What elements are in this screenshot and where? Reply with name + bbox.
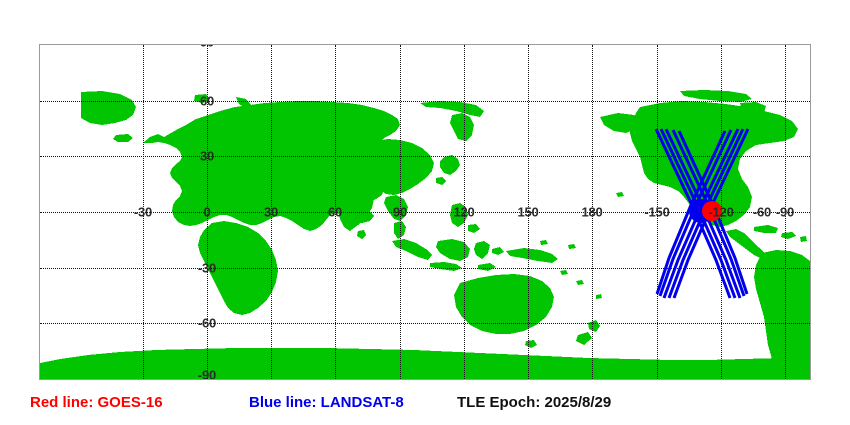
lon-tick-180: 180 [581,206,602,219]
central-america [726,229,766,259]
japan [440,155,460,175]
lon-tick--150: -150 [644,206,669,219]
legend-tle-epoch: TLE Epoch: 2025/8/29 [457,392,611,414]
india [338,183,374,231]
lat-tick--90: -90 [198,369,216,381]
lon-tick--30: -30 [134,206,152,219]
legend-landsat8: Blue line: LANDSAT-8 [249,392,404,414]
pacific-isle-e [568,244,576,249]
lon-tick-30: 30 [264,206,278,219]
gridline-lat-60 [40,101,810,102]
lesser-antilles [800,236,807,242]
lon-tick--120: -120 [708,206,733,219]
gridline-lat-30 [40,156,810,157]
lon-tick--60: -60 [753,206,771,219]
lat-tick--60: -60 [198,317,216,330]
kamchatka [450,113,474,141]
pacific-isle-b [576,280,584,285]
new-guinea [506,248,558,263]
ne-siberia [420,101,484,117]
tasmania [525,340,537,348]
cuba [754,225,778,233]
java [430,262,462,271]
legend-goes16: Red line: GOES-16 [30,392,163,414]
hispaniola [781,232,796,239]
lon-tick-90: 90 [393,206,407,219]
lat-tick-30: 30 [200,150,214,163]
new-zealand-north [588,320,600,332]
gridline-lat--30 [40,268,810,269]
pacific-isle-c [596,294,602,299]
pacific-isle-d [540,240,548,245]
sulawesi [474,241,490,259]
greenland [81,91,136,125]
timor [478,263,496,271]
japan-south [436,177,446,185]
lat-tick-90: 90 [200,44,214,49]
lon-tick-60: 60 [328,206,342,219]
sumatra [392,239,432,260]
sri-lanka [357,230,366,239]
gridline-lat--60 [40,323,810,324]
gridline-lat-0 [40,212,810,213]
map-plot-area[interactable]: -30 0 30 60 90 120 150 180 -150 -120 -90… [39,44,811,380]
antarctica [40,348,810,379]
philippines-south [468,224,480,233]
legend: Red line: GOES-16 Blue line: LANDSAT-8 T… [0,392,850,425]
lat-tick--30: -30 [198,262,216,275]
lon-tick--90: -90 [776,206,794,219]
east-asia [374,139,434,195]
pacific-isle-a [560,270,568,275]
lat-tick-60: 60 [200,95,214,108]
new-zealand-south [576,332,592,345]
moluccas [492,247,504,255]
iceland [113,134,133,142]
lon-tick-150: 150 [517,206,538,219]
lon-tick-120: 120 [453,206,474,219]
satellite-ground-track-map: -30 0 30 60 90 120 150 180 -150 -120 -90… [0,0,850,425]
lon-tick-0: 0 [203,206,210,219]
australia [454,274,554,334]
hawaii [616,192,624,197]
